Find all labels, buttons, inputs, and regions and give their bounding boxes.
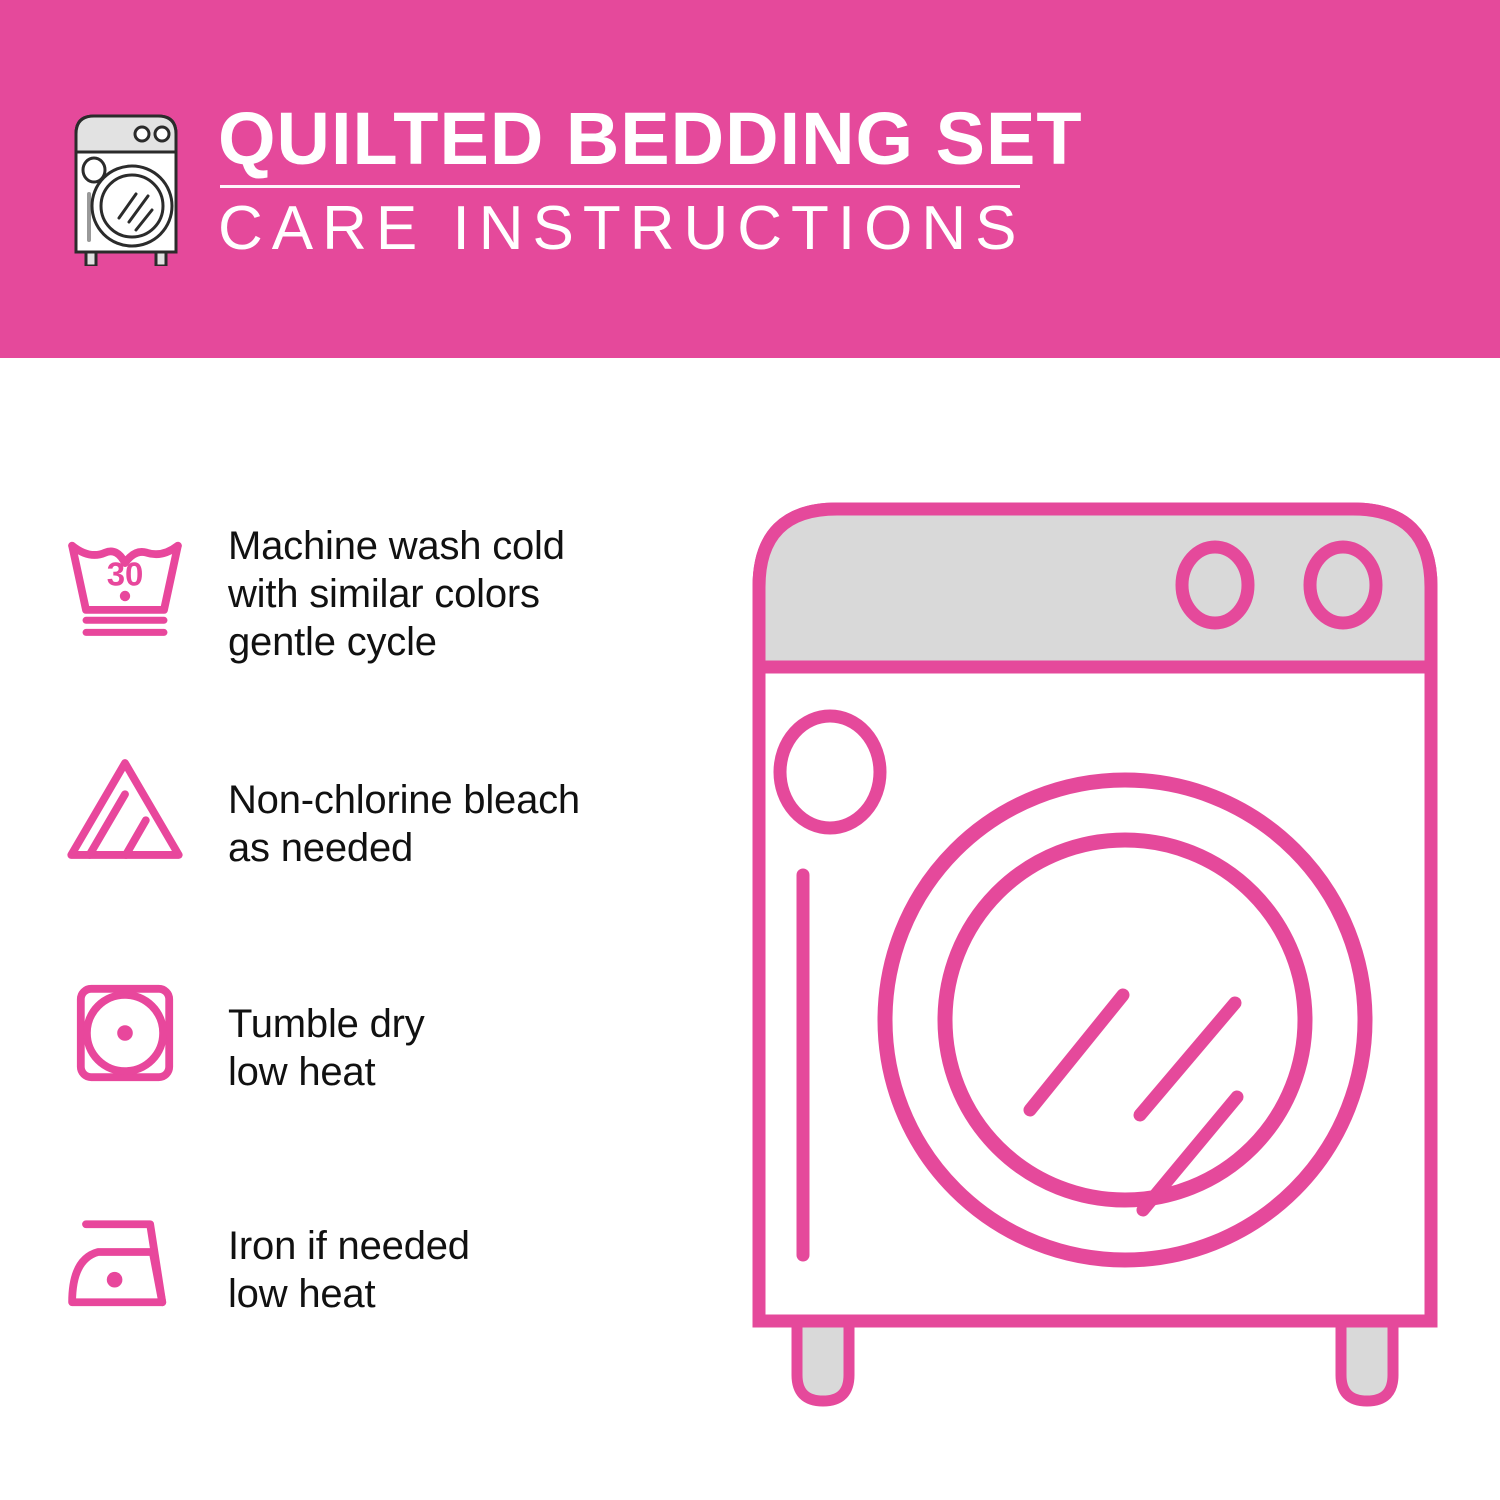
page-title: QUILTED BEDDING SET xyxy=(218,100,1083,178)
page-subtitle: CARE INSTRUCTIONS xyxy=(218,196,1083,262)
care-text-machine-wash: Machine wash cold with similar colors ge… xyxy=(228,500,565,666)
wash-tub-icon: 30 xyxy=(0,500,190,648)
washing-machine-illustration xyxy=(745,495,1445,1425)
care-text-iron: Iron if needed low heat xyxy=(228,1184,470,1318)
tumble-dry-icon xyxy=(0,956,190,1098)
header-banner: QUILTED BEDDING SET CARE INSTRUCTIONS xyxy=(0,0,1500,358)
care-row-bleach: Non-chlorine bleach as needed xyxy=(0,728,700,956)
washing-machine-icon xyxy=(62,106,190,266)
care-text-line: low heat xyxy=(228,1048,425,1096)
care-text-line: Non-chlorine bleach xyxy=(228,776,580,824)
care-row-iron: Iron if needed low heat xyxy=(0,1184,700,1412)
care-row-machine-wash: 30 Machine wash cold with similar colors… xyxy=(0,500,700,728)
care-text-line: low heat xyxy=(228,1270,470,1318)
care-text-line: as needed xyxy=(228,824,580,872)
knob-left xyxy=(1182,547,1248,623)
care-text-tumble-dry: Tumble dry low heat xyxy=(228,956,425,1096)
detergent-dispenser xyxy=(780,716,880,828)
care-text-bleach: Non-chlorine bleach as needed xyxy=(228,728,580,872)
bleach-triangle-icon xyxy=(0,728,190,874)
care-text-line: Machine wash cold xyxy=(228,522,565,570)
care-text-line: gentle cycle xyxy=(228,618,565,666)
title-divider xyxy=(220,185,1020,188)
knob-right xyxy=(1310,547,1376,623)
iron-icon xyxy=(0,1184,190,1330)
header-title-group: QUILTED BEDDING SET CARE INSTRUCTIONS xyxy=(218,100,1083,262)
care-text-line: Iron if needed xyxy=(228,1222,470,1270)
care-text-line: with similar colors xyxy=(228,570,565,618)
header-content: QUILTED BEDDING SET CARE INSTRUCTIONS xyxy=(62,100,1083,266)
wash-temperature-label: 30 xyxy=(107,556,144,593)
care-row-tumble-dry: Tumble dry low heat xyxy=(0,956,700,1184)
care-instruction-list: 30 Machine wash cold with similar colors… xyxy=(0,500,700,1412)
care-text-line: Tumble dry xyxy=(228,1000,425,1048)
door-inner-ring xyxy=(945,840,1305,1200)
